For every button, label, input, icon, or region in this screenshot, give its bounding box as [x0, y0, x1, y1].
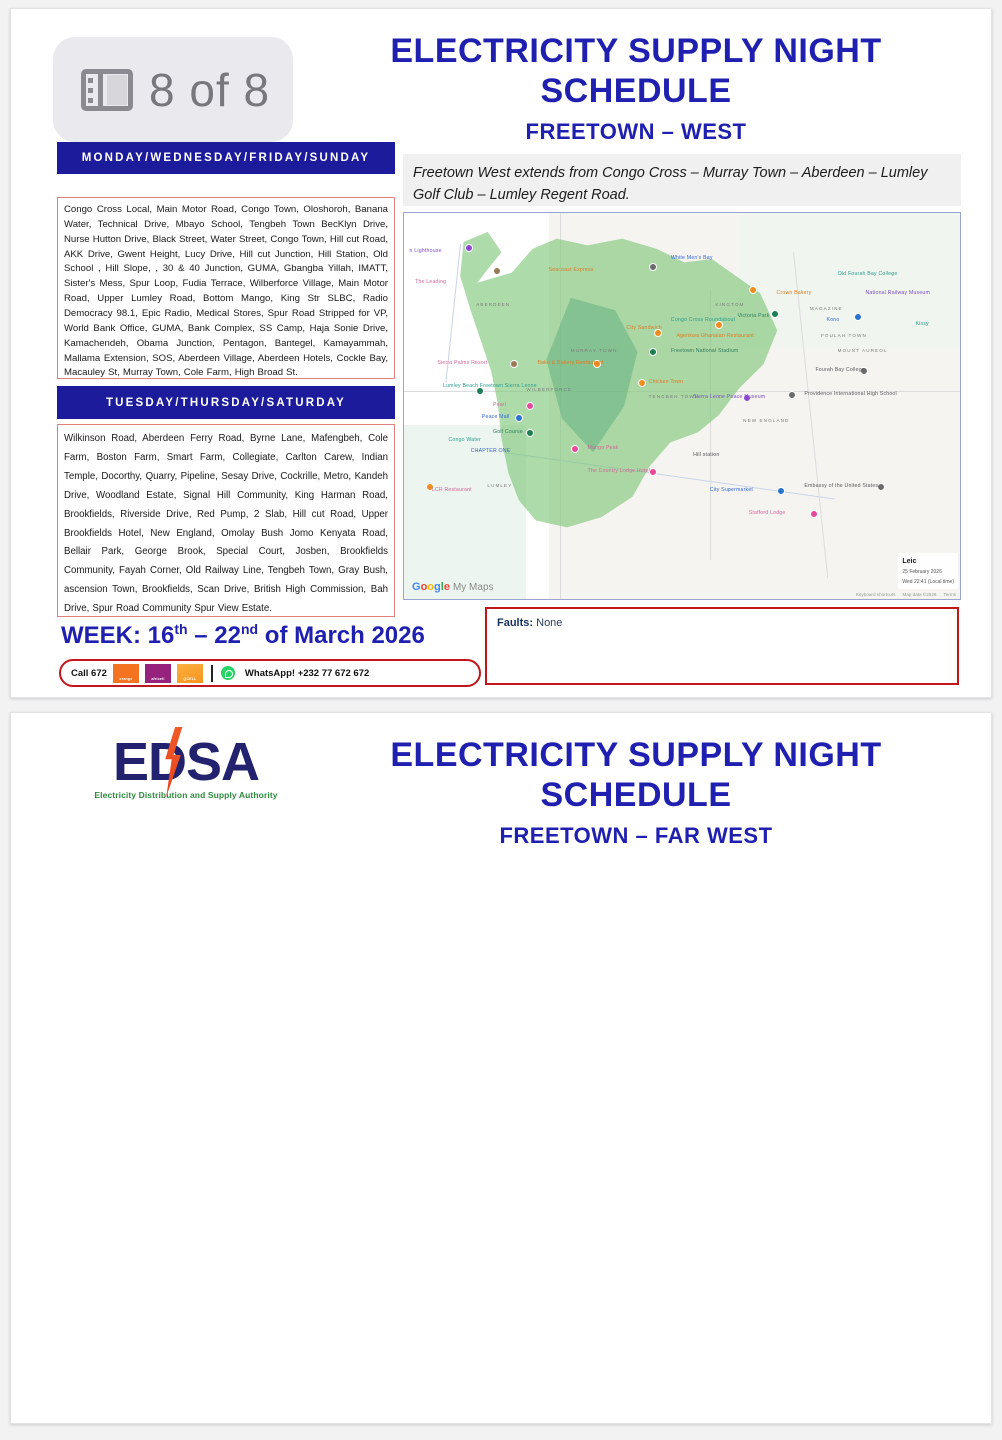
faults-label: Faults:: [497, 617, 533, 629]
map-pin[interactable]: [465, 244, 473, 252]
schedule-page-far-west: EDSA Electricity Distribution and Supply…: [10, 712, 992, 1424]
map-pin[interactable]: [777, 487, 785, 495]
map-label: Golf Course: [493, 429, 523, 435]
map-date: 25 February 2026: [902, 568, 954, 578]
edsa-wordmark: EDSA: [113, 735, 259, 789]
map-label: Congo Water: [448, 437, 481, 443]
map-keyboard-shortcuts[interactable]: Keyboard shortcuts: [856, 592, 896, 597]
map-label: Seacoast Express: [549, 267, 594, 273]
day-header-tue-thu-sat: TUESDAY/THURSDAY/SATURDAY: [57, 386, 395, 419]
map-label: Bake & Bakery Restaurant: [537, 360, 603, 366]
map-label: MOUNT AUREOL: [838, 348, 888, 353]
map-label: Kono: [827, 317, 840, 323]
map-label: NEW ENGLAND: [743, 418, 789, 423]
map-time-local: Wed 22:41 (Local time): [902, 578, 954, 588]
map-label: Victoria Park: [738, 313, 770, 319]
map-label: Sierra Leone Peace Museum: [693, 394, 765, 400]
coverage-map-west[interactable]: n LighthouseThe LeadingABERDEENSeacoast …: [403, 212, 961, 600]
map-label: Providence International High School: [804, 391, 897, 397]
orange-logo-icon: orange: [113, 664, 139, 683]
map-label: Stafford Lodge: [749, 510, 786, 516]
page-title: ELECTRICITY SUPPLY NIGHT SCHEDULE: [311, 31, 961, 111]
map-label: City Supermarket: [710, 487, 753, 493]
faults-box: Faults: None: [485, 607, 959, 685]
page-subtitle: FREETOWN – WEST: [311, 119, 961, 145]
map-label: Congo Cross Roundabout: [671, 317, 735, 323]
map-pin[interactable]: [788, 391, 796, 399]
map-label: Embassy of the United States: [804, 483, 878, 489]
map-corner-label: Leic: [902, 555, 954, 568]
page-header: ELECTRICITY SUPPLY NIGHT SCHEDULE FREETO…: [311, 31, 961, 145]
edsa-letters: EDSA: [113, 732, 259, 792]
map-data-credit: Map data ©2026: [902, 592, 936, 597]
page-layout-icon: [81, 69, 133, 111]
faults-value: None: [536, 617, 562, 629]
area-list-tue-thu-sat: Wilkinson Road, Aberdeen Ferry Road, Byr…: [57, 424, 395, 617]
page-title-2: ELECTRICITY SUPPLY NIGHT SCHEDULE: [311, 735, 961, 815]
call-label: Call 672: [71, 668, 107, 679]
map-pin[interactable]: [649, 348, 657, 356]
separator: [211, 665, 213, 682]
map-label: TENGBEH TOWN: [649, 394, 700, 399]
map-label: LUMLEY: [487, 483, 512, 488]
page-indicator-label: 8 of 8: [149, 63, 270, 117]
map-terms-link[interactable]: Terms: [943, 592, 956, 597]
map-label: The Leading: [415, 279, 446, 285]
week-from-sup: th: [174, 621, 187, 637]
map-label: KINGTOM: [715, 302, 744, 307]
map-label: MAGAZINE: [810, 306, 843, 311]
map-pin[interactable]: [493, 267, 501, 275]
google-my-maps-logo: Google My Maps: [412, 581, 494, 593]
map-label: Pearl: [493, 402, 506, 408]
day-header-mon-wed-fri-sun: MONDAY/WEDNESDAY/FRIDAY/SUNDAY: [57, 142, 395, 174]
week-banner: WEEK: 16th – 22nd of March 2026: [61, 621, 425, 650]
week-prefix: WEEK:: [61, 622, 141, 649]
map-label: Lumley Beach Freetown Sierra Leone: [443, 383, 537, 389]
contact-bar[interactable]: Call 672 orange africell QCELL WhatsApp!…: [59, 659, 481, 687]
area-list-mon-wed-fri-sun: Congo Cross Local, Main Motor Road, Cong…: [57, 197, 395, 379]
map-label: Freetown National Stadium: [671, 348, 739, 354]
map-label: Kissy: [916, 321, 929, 327]
map-attribution: Keyboard shortcuts Map data ©2026 Terms: [856, 592, 956, 597]
map-label: Chicken Town: [649, 379, 684, 385]
week-from: 16: [148, 622, 175, 649]
week-dash: –: [194, 622, 207, 649]
map-label: White Men's Bay: [671, 255, 713, 261]
map-label: Crown Bakery: [777, 290, 812, 296]
map-label: Sierra Palms Resort: [437, 360, 487, 366]
map-pin[interactable]: [571, 445, 579, 453]
map-label: Fourah Bay College: [815, 367, 864, 373]
whatsapp-icon[interactable]: [221, 666, 235, 680]
page-subtitle-2: FREETOWN – FAR WEST: [311, 823, 961, 849]
africell-logo-icon: africell: [145, 664, 171, 683]
page-indicator-pill[interactable]: 8 of 8: [53, 37, 293, 142]
whatsapp-number: WhatsApp! +232 77 672 672: [245, 668, 369, 679]
qcell-logo-icon: QCELL: [177, 664, 203, 683]
map-label: LCR Restaurant: [432, 487, 472, 493]
map-label: Mango Peak: [587, 445, 618, 451]
map-pin[interactable]: [771, 310, 779, 318]
map-label: National Railway Museum: [865, 290, 930, 296]
week-tail: of March 2026: [265, 622, 425, 649]
map-label: Hill station: [693, 452, 719, 458]
map-label: Old Fourah Bay College: [838, 271, 898, 277]
map-pin[interactable]: [649, 263, 657, 271]
map-label: n Lighthouse: [410, 248, 442, 254]
map-pin[interactable]: [510, 360, 518, 368]
map-pin[interactable]: [638, 379, 646, 387]
week-to: 22: [214, 622, 241, 649]
map-label: The Country Lodge Hotel: [587, 468, 650, 474]
map-label: Agenkwa Ghanaian Restaurant: [676, 333, 754, 339]
map-timestamp-overlay: Leic 25 February 2026 Wed 22:41 (Local t…: [898, 553, 958, 589]
map-label: Peace Mall: [482, 414, 510, 420]
coverage-description: Freetown West extends from Congo Cross –…: [403, 154, 961, 206]
edsa-logo-2: EDSA Electricity Distribution and Supply…: [61, 735, 311, 800]
map-label: City Sandwich: [626, 325, 661, 331]
map-label: CHAPTER ONE: [471, 448, 511, 454]
map-label: FOULAH TOWN: [821, 333, 867, 338]
map-label: ABERDEEN: [476, 302, 510, 307]
page-header-2: ELECTRICITY SUPPLY NIGHT SCHEDULE FREETO…: [311, 735, 961, 849]
map-pin[interactable]: [515, 414, 523, 422]
map-label: WILBERFORCE: [526, 387, 572, 392]
map-label: MURRAY TOWN: [571, 348, 618, 353]
week-to-sup: nd: [241, 621, 258, 637]
schedule-page-west: 8 of 8 Electricity Distribution and Supp…: [10, 8, 992, 698]
